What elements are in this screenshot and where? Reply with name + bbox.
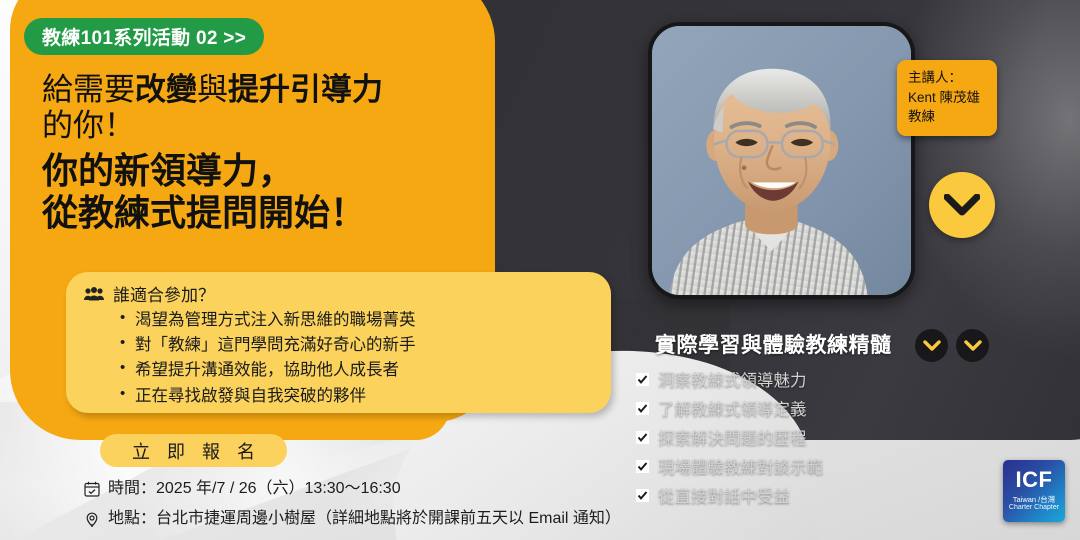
icf-logo: ICF Taiwan /台灣 Charter Chapter <box>1003 460 1065 522</box>
headline-seg-a: 給需要 <box>42 72 135 107</box>
audience-card: 誰適合參加？ 渴望為管理方式注入新思維的職場菁英 對「教練」這門學問充滿好奇心的… <box>66 272 611 413</box>
list-item-label: 洞察教練式領導魅力 <box>658 367 807 391</box>
speaker-role: 主講人： <box>908 68 988 88</box>
poster-canvas: 教練101系列活動 02 >> 給需要改變與提升引導力 的你！ 你的新領導力， … <box>0 0 1080 540</box>
list-item: 正在尋找啟發與自我突破的夥伴 <box>120 384 593 409</box>
chevron-down-icon[interactable] <box>929 172 995 238</box>
headline-line-1: 給需要改變與提升引導力 <box>42 72 492 108</box>
list-item: 洞察教練式領導魅力 <box>636 367 996 391</box>
icf-logo-main: ICF <box>1016 469 1053 491</box>
list-item: 對「教練」這門學問充滿好奇心的新手 <box>120 333 593 358</box>
register-button-label: 立 即 報 名 <box>126 438 261 464</box>
headline: 給需要改變與提升引導力 的你！ 你的新領導力， 從教練式提問開始！ <box>42 72 492 233</box>
check-icon <box>636 460 649 473</box>
list-item: 了解教練式領導定義 <box>636 396 996 420</box>
check-icon <box>636 489 649 502</box>
calendar-icon <box>84 481 100 497</box>
icf-logo-sub2: Charter Chapter <box>1009 504 1059 513</box>
list-item-label: 探索解決問題的歷程 <box>658 425 807 449</box>
list-item: 現場體驗教練對談示範 <box>636 454 996 478</box>
list-item-label: 從直接對話中受益 <box>658 483 790 507</box>
event-time-row: 時間：2025 年/7 / 26（六）13:30～16:30 <box>84 474 704 504</box>
speaker-title: 教練 <box>908 107 988 127</box>
headline-line-4: 從教練式提問開始！ <box>42 192 492 234</box>
headline-line-2: 的你！ <box>42 108 492 144</box>
speaker-portrait <box>648 22 915 299</box>
headline-seg-c: 與 <box>197 72 228 107</box>
register-button[interactable]: 立 即 報 名 <box>100 434 287 467</box>
headline-seg-b: 改變 <box>135 72 197 107</box>
event-time-text: 時間：2025 年/7 / 26（六）13:30～16:30 <box>108 474 401 504</box>
list-item: 從直接對話中受益 <box>636 483 996 507</box>
event-location-row: 地點：台北市捷運周邊小樹屋（詳細地點將於開課前五天以 Email 通知） <box>84 504 704 534</box>
speaker-name: Kent 陳茂雄 <box>908 88 988 108</box>
chevron-down-icon[interactable] <box>915 329 948 362</box>
check-icon <box>636 431 649 444</box>
list-item-label: 了解教練式領導定義 <box>658 396 807 420</box>
list-item: 希望提升溝通效能，協助他人成長者 <box>120 358 593 383</box>
chevron-down-icon[interactable] <box>956 329 989 362</box>
audience-heading: 誰適合參加？ <box>84 281 593 306</box>
audience-heading-label: 誰適合參加？ <box>113 281 215 306</box>
check-icon <box>636 373 649 386</box>
icf-logo-sub1: Taiwan /台灣 <box>1013 495 1056 504</box>
speaker-tag: 主講人： Kent 陳茂雄 教練 <box>897 60 997 136</box>
list-item-label: 現場體驗教練對談示範 <box>658 454 823 478</box>
event-location-text: 地點：台北市捷運周邊小樹屋（詳細地點將於開課前五天以 Email 通知） <box>108 504 621 534</box>
benefits-list: 洞察教練式領導魅力 了解教練式領導定義 探索解決問題的歷程 現場體驗教練對談示範… <box>636 367 996 512</box>
headline-seg-d: 提升引導力 <box>228 72 383 107</box>
series-badge-label: 教練101系列活動 02 >> <box>42 23 246 50</box>
list-item: 探索解決問題的歷程 <box>636 425 996 449</box>
audience-list: 渴望為管理方式注入新思維的職場菁英 對「教練」這門學問充滿好奇心的新手 希望提升… <box>120 308 593 409</box>
map-pin-icon <box>84 512 100 528</box>
series-badge[interactable]: 教練101系列活動 02 >> <box>24 18 264 55</box>
check-icon <box>636 402 649 415</box>
event-meta: 時間：2025 年/7 / 26（六）13:30～16:30 地點：台北市捷運周… <box>84 474 704 535</box>
headline-line-3: 你的新領導力， <box>42 150 492 192</box>
list-item: 渴望為管理方式注入新思維的職場菁英 <box>120 308 593 333</box>
people-icon <box>84 287 104 301</box>
benefits-title: 實際學習與體驗教練精髓 <box>655 329 892 359</box>
